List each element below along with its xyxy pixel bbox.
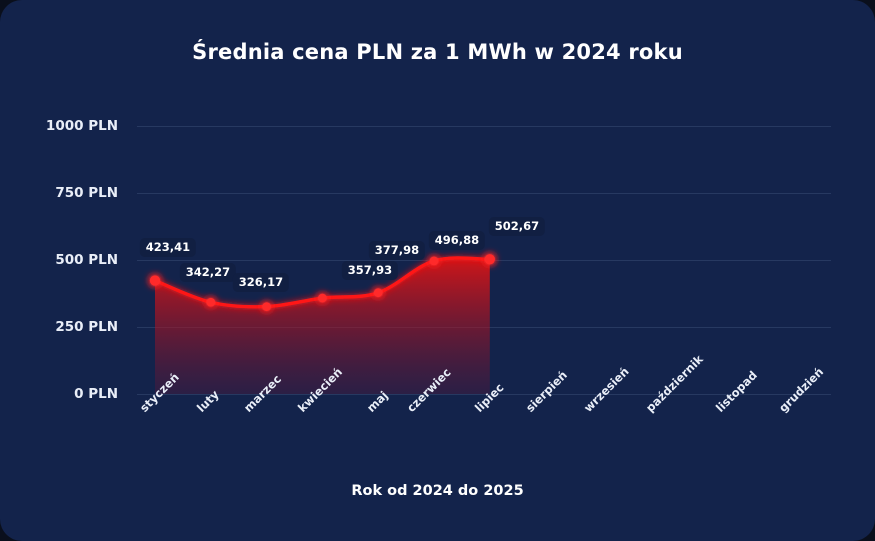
data-series-area	[0, 0, 875, 541]
plot-area: 1000 PLN 750 PLN 500 PLN 250 PLN 0 PLN	[0, 0, 875, 541]
x-axis-title: Rok od 2024 do 2025	[0, 483, 875, 499]
data-point-marker[interactable]	[430, 256, 439, 265]
chart-card: Średnia cena PLN za 1 MWh w 2024 roku 10…	[0, 0, 875, 541]
value-label-styczen: 423,41	[140, 238, 196, 257]
data-point-marker[interactable]	[262, 302, 271, 311]
data-point-marker[interactable]	[206, 298, 215, 307]
data-point-marker[interactable]	[374, 288, 383, 297]
data-point-marker[interactable]	[318, 294, 327, 303]
data-point-marker[interactable]	[150, 275, 160, 285]
value-label-luty: 342,27	[180, 263, 236, 282]
data-point-marker[interactable]	[485, 254, 495, 264]
value-label-lipiec: 502,67	[489, 217, 545, 236]
value-label-czerwiec: 496,88	[429, 231, 485, 250]
value-label-kwiecien: 357,93	[342, 261, 398, 280]
value-label-marzec: 326,17	[233, 273, 289, 292]
value-label-maj: 377,98	[369, 241, 425, 260]
